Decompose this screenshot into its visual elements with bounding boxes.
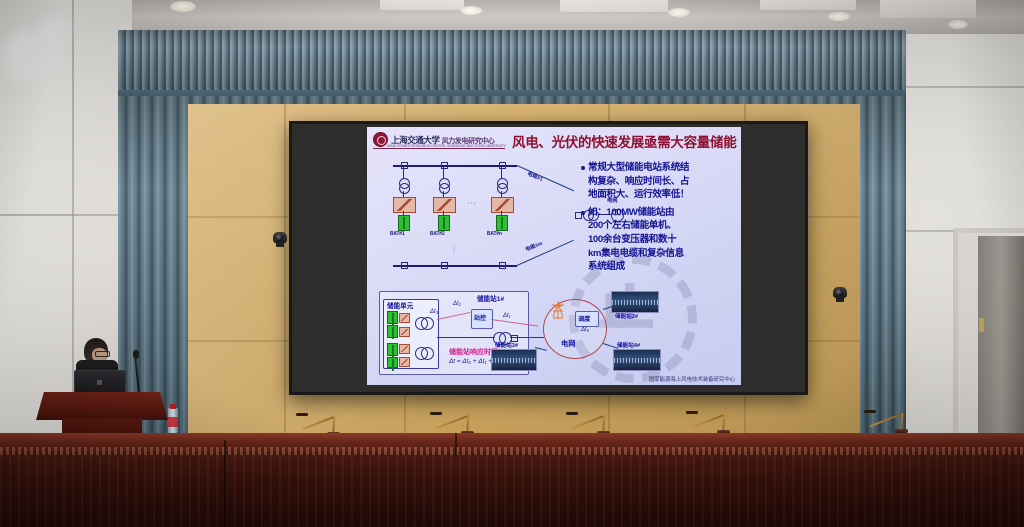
delta-t3-label: Δt₃	[430, 309, 438, 315]
bullet-line: km集电电缆和复杂信息	[588, 247, 684, 261]
wall-seam	[0, 214, 132, 216]
battery-label: BAT#n	[487, 231, 502, 237]
grid-label: 电网	[561, 339, 575, 349]
battery-label: BAT#1	[390, 231, 404, 237]
bullet-line: 构复杂、响应时间长、占	[588, 175, 689, 189]
wall-seam	[906, 86, 1024, 88]
storage-unit-label: 储能单元	[387, 300, 413, 310]
glasses	[95, 351, 110, 357]
conference-hall-screenshot: 上海交通大学 风力发电研究中心 WIND POWER RESEARCH CENT…	[0, 0, 1024, 527]
ceiling-light-panel	[760, 0, 856, 10]
ptz-camera-icon	[271, 232, 289, 247]
curtain-valance	[118, 30, 906, 96]
bullet-line: 200个左右储能单机、	[588, 219, 684, 233]
university-seal-icon	[373, 132, 388, 147]
top-single-line-diagram: BAT#1 BAT#2 ··· BAT#n	[375, 157, 575, 287]
projection-screen: 上海交通大学 风力发电研究中心 WIND POWER RESEARCH CENT…	[289, 121, 808, 395]
conference-desk-front	[0, 455, 1024, 527]
ceiling-spotlight	[668, 8, 690, 17]
podium-top	[36, 392, 168, 420]
station-label: 储能站1#	[477, 293, 504, 303]
podium-microphone[interactable]	[133, 350, 139, 359]
bullet-line: 常规大型储能电站系统结	[588, 161, 689, 175]
ptz-camera-icon	[831, 287, 849, 302]
station-control-label: 站控	[474, 313, 486, 322]
slide-footer: 国家能源海上风电技术装备研究中心	[367, 375, 735, 383]
ceiling-spotlight	[948, 20, 968, 29]
water-bottle	[168, 408, 178, 434]
station-thumb-caption: 储能站3#	[495, 341, 518, 349]
bullet-item: 如：100MW储能站由 200个左右储能单机、 100余台变压器和数十 km集电…	[581, 206, 737, 274]
desk-seam	[224, 440, 226, 527]
ceiling-spotlight	[170, 1, 196, 12]
slide-title: 风电、光伏的快速发展亟需大容量储能	[512, 131, 735, 151]
dispatch-label: 调度	[578, 314, 590, 323]
bullet-line: 如：100MW储能站由	[588, 206, 684, 220]
desk-seam	[455, 433, 457, 457]
delta-t2-label: Δt₂	[453, 301, 461, 307]
bullet-line: 地面积大、运行效率低！	[588, 188, 689, 202]
door[interactable]	[978, 236, 1024, 436]
ceiling-light-panel	[380, 0, 464, 10]
ceiling-spotlight	[828, 12, 850, 21]
ceiling-light-panel	[880, 0, 976, 18]
bottom-system-diagram: 储能站1# 储能单元 Δt₃ 站控 Δt₂	[375, 287, 733, 379]
cable-label: 电缆#m	[524, 240, 543, 253]
delta-t1-label: Δt₁	[503, 313, 511, 319]
bullet-line: 系统组成	[588, 260, 684, 274]
station-photo-thumbnail	[613, 349, 661, 371]
bullet-item: 常规大型储能电站系统结 构复杂、响应时间长、占 地面积大、运行效率低！	[581, 161, 737, 202]
battery-label: BAT#2	[430, 231, 444, 237]
station-thumb-caption: 储能站2#	[615, 312, 638, 320]
ceiling-light-panel	[560, 0, 668, 12]
bullet-line: 100余台变压器和数十	[588, 233, 684, 247]
transmission-tower-icon	[551, 301, 565, 319]
bullet-dot-icon	[581, 211, 585, 215]
delta-t0-label: Δt₀	[581, 327, 589, 333]
slide-bullets: 常规大型储能电站系统结 构复杂、响应时间长、占 地面积大、运行效率低！ 如：10…	[581, 161, 737, 276]
logo-subtitle: WIND POWER RESEARCH CENTER, SHANGHAI JIA…	[387, 144, 506, 148]
wall-gloss	[40, 18, 74, 40]
presentation-slide: 上海交通大学 风力发电研究中心 WIND POWER RESEARCH CENT…	[367, 127, 741, 385]
diagram-ellipsis: ···	[467, 200, 477, 207]
ceiling-spotlight	[460, 6, 482, 15]
bullet-dot-icon	[581, 166, 585, 170]
logo-divider	[373, 148, 505, 149]
station-photo-thumbnail	[491, 349, 537, 371]
cable-label: 电缆#1	[526, 170, 544, 183]
station-photo-thumbnail	[611, 291, 659, 313]
door-handle[interactable]	[979, 318, 984, 332]
station-thumb-caption: 储能站4#	[617, 341, 640, 349]
